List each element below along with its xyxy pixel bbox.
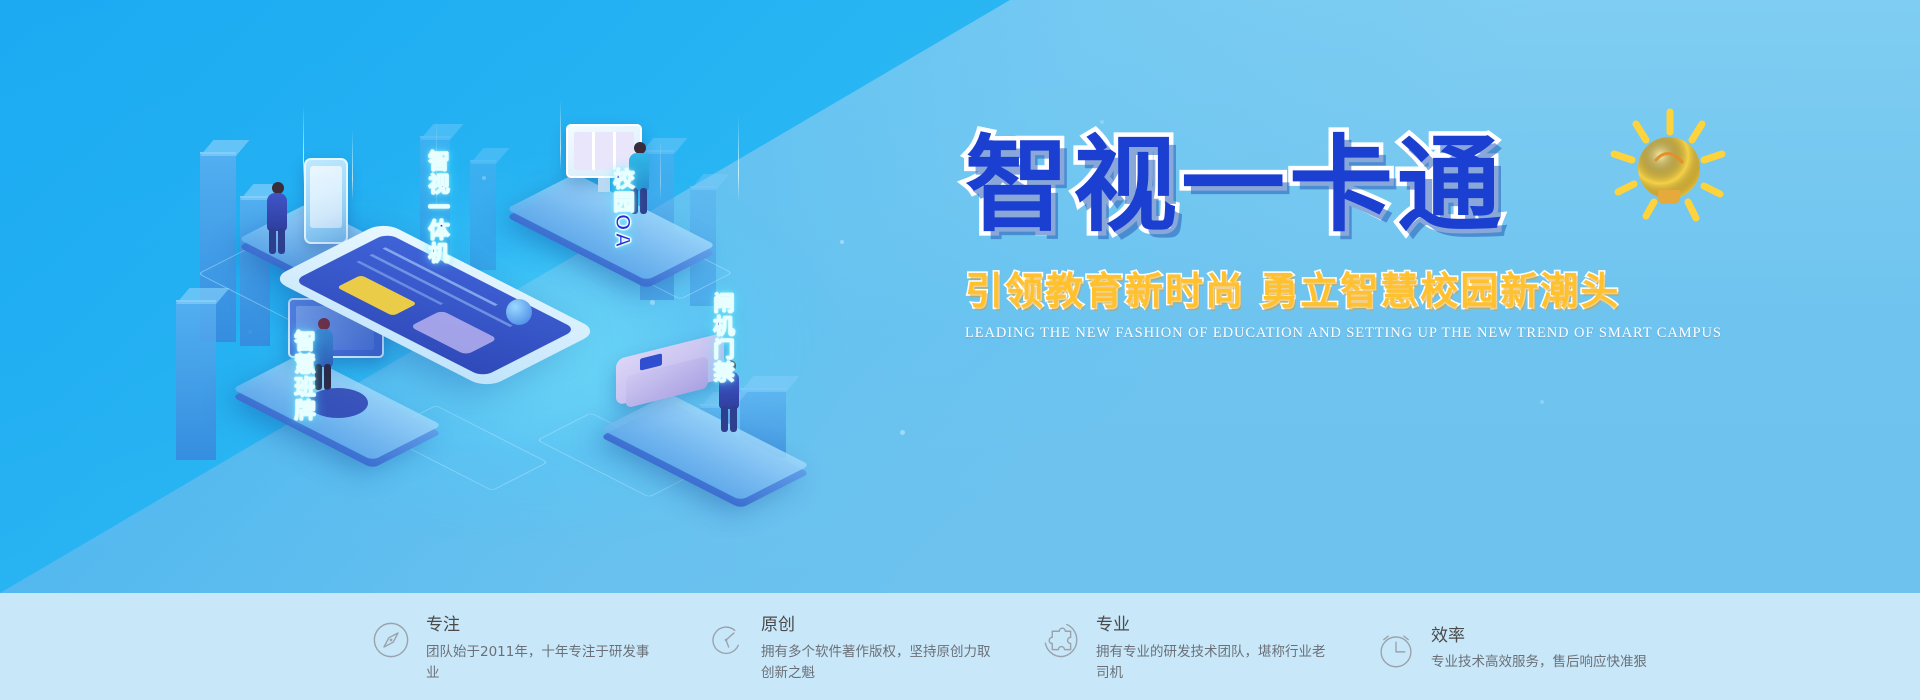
stopwatch-icon <box>705 619 747 661</box>
illustration-label-3: 闸机门禁 <box>707 292 737 384</box>
feature-text: 专注 团队始于2011年，十年专注于研发事业 <box>426 613 656 683</box>
feature-item-efficiency: 效率 专业技术高效服务，售后响应快准狠 <box>1375 620 1680 673</box>
feature-description: 团队始于2011年，十年专注于研发事业 <box>426 642 656 684</box>
feature-item-focus: 专注 团队始于2011年，十年专注于研发事业 <box>370 609 675 683</box>
title-block: 智视一卡通 引领教育新时尚 勇立智慧校园新潮头 LEADING THE NEW … <box>965 130 1705 342</box>
puzzle-icon <box>1040 619 1082 661</box>
feature-title: 专注 <box>426 613 656 639</box>
clock-icon <box>1375 630 1417 672</box>
feature-item-original: 原创 拥有多个软件著作版权，坚持原创力取创新之魁 <box>705 609 1010 683</box>
feature-description: 拥有专业的研发技术团队，堪称行业老司机 <box>1096 642 1326 684</box>
illustration-label-2: 智慧班牌 <box>288 330 318 422</box>
page-subtitle-english: LEADING THE NEW FASHION OF EDUCATION AND… <box>965 325 1705 342</box>
page-title: 智视一卡通 <box>965 130 1705 240</box>
hero-banner: 智视一体机 校园OA 智慧班牌 闸机门禁 <box>0 0 1920 593</box>
feature-description: 拥有多个软件著作版权，坚持原创力取创新之魁 <box>761 642 991 684</box>
feature-title: 原创 <box>761 613 991 639</box>
feature-bar: 专注 团队始于2011年，十年专注于研发事业 原创 拥有多个软件著作版权，坚持原… <box>0 593 1920 700</box>
feature-title: 专业 <box>1096 613 1326 639</box>
feature-description: 专业技术高效服务，售后响应快准狠 <box>1431 652 1661 673</box>
feature-title: 效率 <box>1431 624 1661 650</box>
illustration-label-1: 校园OA <box>607 168 637 250</box>
feature-text: 效率 专业技术高效服务，售后响应快准狠 <box>1431 624 1661 673</box>
feature-text: 专业 拥有专业的研发技术团队，堪称行业老司机 <box>1096 613 1326 683</box>
feature-item-professional: 专业 拥有专业的研发技术团队，堪称行业老司机 <box>1040 609 1345 683</box>
illustration-label-0: 智视一体机 <box>422 150 452 265</box>
feature-text: 原创 拥有多个软件著作版权，坚持原创力取创新之魁 <box>761 613 991 683</box>
compass-icon <box>370 619 412 661</box>
page-subtitle: 引领教育新时尚 勇立智慧校园新潮头 <box>965 260 1705 315</box>
